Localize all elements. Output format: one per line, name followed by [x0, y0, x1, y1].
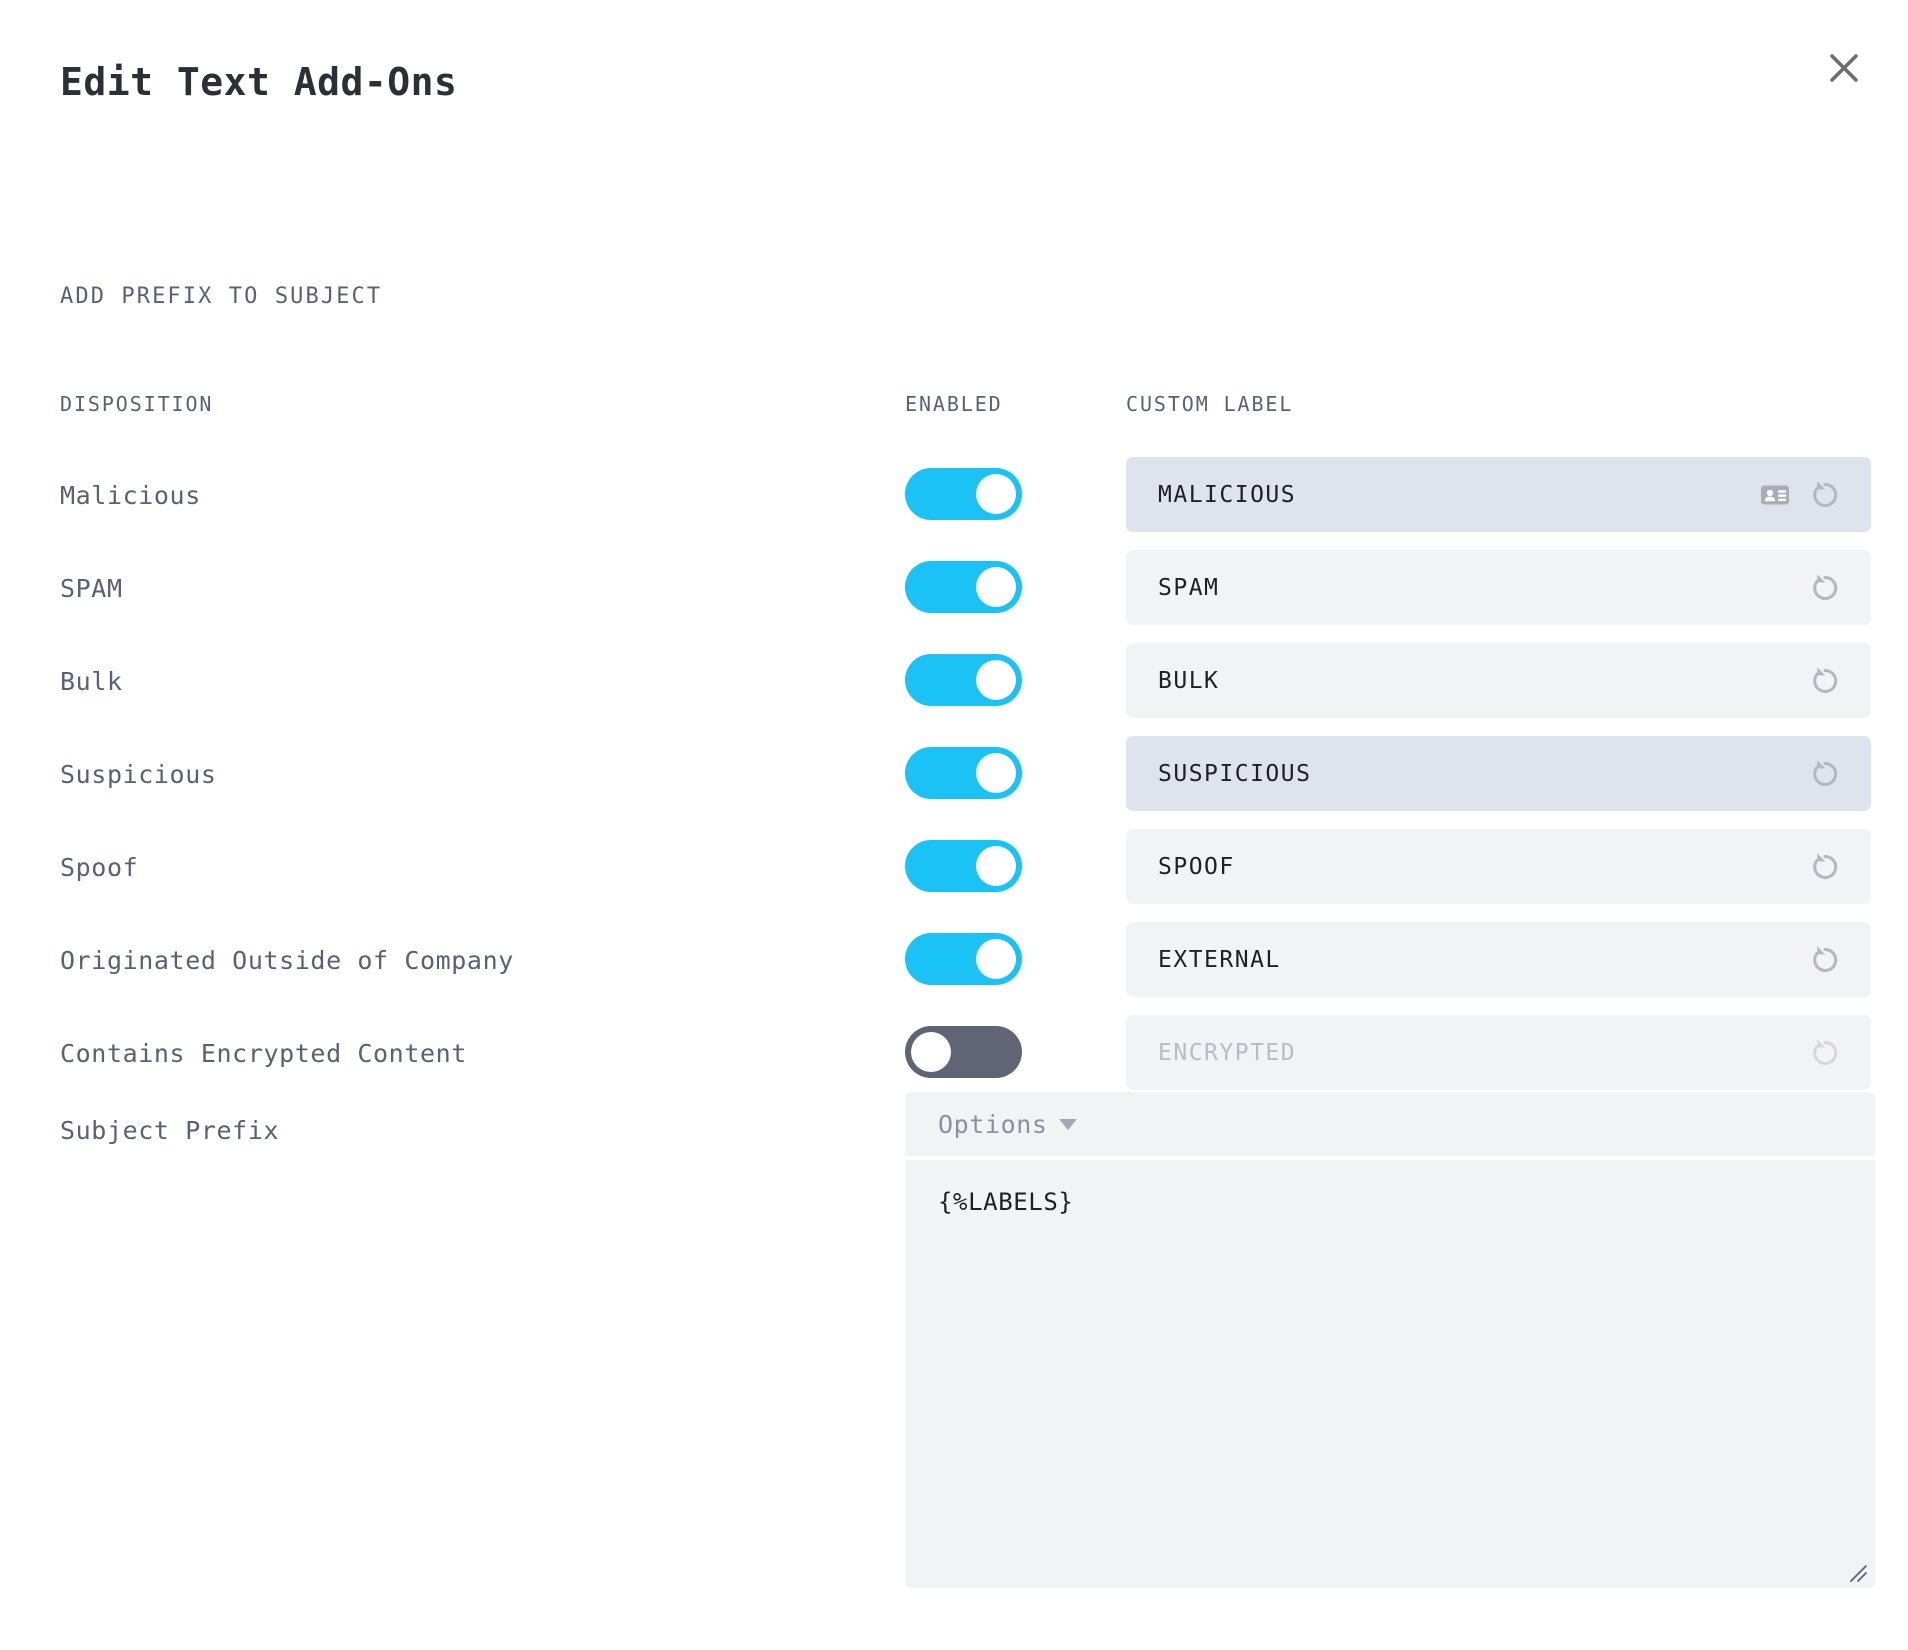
options-dropdown-label: Options: [938, 1110, 1048, 1139]
enabled-toggle[interactable]: [905, 654, 1022, 706]
reset-icon[interactable]: [1805, 568, 1845, 608]
subject-prefix-toolbar: Options: [905, 1092, 1875, 1156]
close-button[interactable]: [1816, 40, 1872, 96]
field-icon-group: [1805, 754, 1845, 794]
chevron-down-icon: [1059, 1119, 1077, 1130]
custom-label-input[interactable]: SUSPICIOUS: [1126, 736, 1871, 811]
enabled-toggle[interactable]: [905, 840, 1022, 892]
toggle-knob: [976, 660, 1016, 700]
custom-label-input[interactable]: MALICIOUS: [1126, 457, 1871, 532]
custom-label-value: MALICIOUS: [1158, 482, 1755, 508]
field-icon-group: [1805, 661, 1845, 701]
page-title: Edit Text Add-Ons: [60, 60, 457, 104]
custom-label-input[interactable]: SPOOF: [1126, 829, 1871, 904]
custom-label-input[interactable]: BULK: [1126, 643, 1871, 718]
custom-label-value: ENCRYPTED: [1158, 1040, 1805, 1066]
disposition-label: Suspicious: [60, 760, 217, 789]
field-icon-group: [1805, 847, 1845, 887]
table-row: SuspiciousSUSPICIOUS: [0, 734, 1908, 827]
custom-label-value: SUSPICIOUS: [1158, 761, 1805, 787]
column-header-disposition: DISPOSITION: [60, 392, 213, 416]
reset-icon[interactable]: [1805, 847, 1845, 887]
custom-label-input[interactable]: EXTERNAL: [1126, 922, 1871, 997]
disposition-rows: MaliciousMALICIOUSSPAMSPAMBulkBULKSuspic…: [0, 455, 1908, 1106]
disposition-label: Originated Outside of Company: [60, 946, 514, 975]
enabled-toggle[interactable]: [905, 561, 1022, 613]
subject-prefix-label: Subject Prefix: [60, 1116, 279, 1145]
toggle-knob: [911, 1032, 951, 1072]
custom-label-input[interactable]: SPAM: [1126, 550, 1871, 625]
column-header-enabled: ENABLED: [905, 392, 1003, 416]
field-icon-group: [1755, 475, 1845, 515]
enabled-toggle[interactable]: [905, 468, 1022, 520]
reset-icon[interactable]: [1805, 661, 1845, 701]
toggle-knob: [976, 939, 1016, 979]
enabled-toggle[interactable]: [905, 933, 1022, 985]
contact-card-icon[interactable]: [1755, 475, 1795, 515]
edit-text-addons-dialog: Edit Text Add-Ons ADD PREFIX TO SUBJECT …: [0, 0, 1908, 1650]
field-icon-group: [1805, 940, 1845, 980]
custom-label-input: ENCRYPTED: [1126, 1015, 1871, 1090]
options-dropdown-button[interactable]: Options: [938, 1110, 1077, 1139]
table-row: MaliciousMALICIOUS: [0, 455, 1908, 548]
custom-label-value: SPAM: [1158, 575, 1805, 601]
reset-icon[interactable]: [1805, 940, 1845, 980]
toggle-knob: [976, 474, 1016, 514]
subject-prefix-value[interactable]: {%LABELS}: [938, 1188, 1875, 1216]
toggle-knob: [976, 567, 1016, 607]
reset-icon: [1805, 1033, 1845, 1073]
subject-prefix-textarea[interactable]: {%LABELS}: [905, 1160, 1875, 1588]
disposition-label: Bulk: [60, 667, 123, 696]
table-row: SpoofSPOOF: [0, 827, 1908, 920]
field-icon-group: [1805, 1033, 1845, 1073]
table-row: SPAMSPAM: [0, 548, 1908, 641]
toggle-knob: [976, 753, 1016, 793]
resize-handle-icon[interactable]: [1845, 1560, 1871, 1586]
enabled-toggle[interactable]: [905, 747, 1022, 799]
disposition-label: Spoof: [60, 853, 138, 882]
reset-icon[interactable]: [1805, 754, 1845, 794]
table-row: Originated Outside of CompanyEXTERNAL: [0, 920, 1908, 1013]
disposition-label: SPAM: [60, 574, 123, 603]
custom-label-value: BULK: [1158, 668, 1805, 694]
close-icon: [1827, 51, 1861, 85]
enabled-toggle[interactable]: [905, 1026, 1022, 1078]
custom-label-value: EXTERNAL: [1158, 947, 1805, 973]
field-icon-group: [1805, 568, 1845, 608]
reset-icon[interactable]: [1805, 475, 1845, 515]
column-header-custom-label: CUSTOM LABEL: [1126, 392, 1293, 416]
toggle-knob: [976, 846, 1016, 886]
disposition-label: Contains Encrypted Content: [60, 1039, 467, 1068]
table-row: BulkBULK: [0, 641, 1908, 734]
section-heading: ADD PREFIX TO SUBJECT: [60, 284, 382, 309]
custom-label-value: SPOOF: [1158, 854, 1805, 880]
disposition-label: Malicious: [60, 481, 201, 510]
